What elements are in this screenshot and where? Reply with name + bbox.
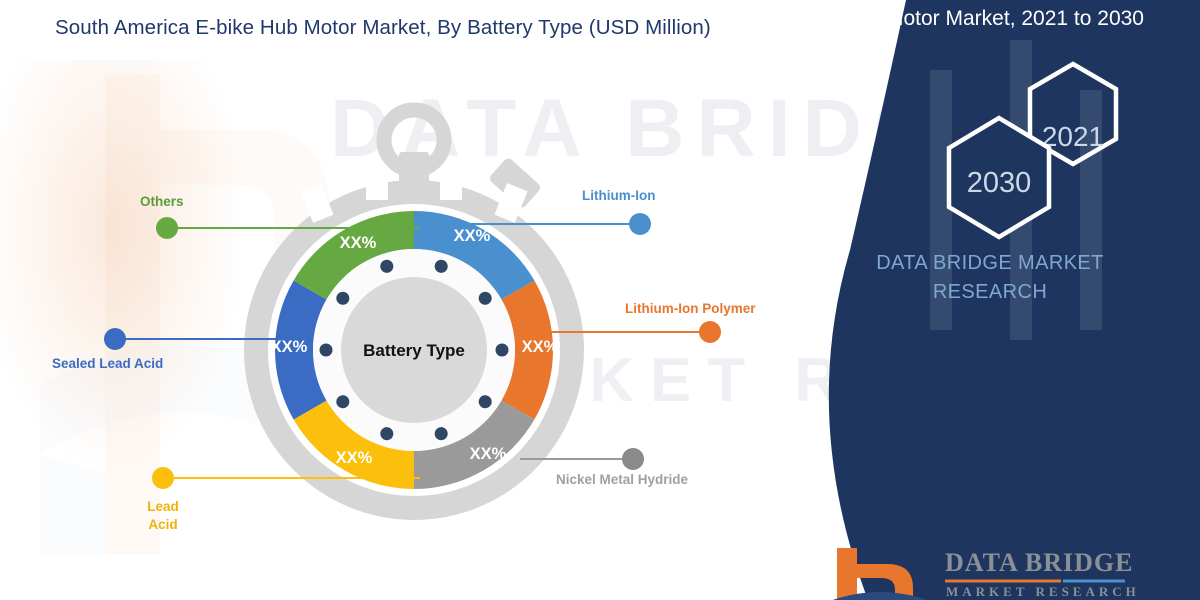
hexagon-2030[interactable]: 2030 (949, 118, 1049, 237)
lead-acid-line1: Lead (147, 499, 179, 514)
callout-label-lithium-ion: Lithium-Ion (582, 188, 655, 203)
infographic-page: DATA BRIDGE MARKET RESEARCH South Americ… (0, 0, 1200, 600)
callout-label-lead-acid: Lead Acid (128, 498, 198, 534)
lead-acid-line2: Acid (148, 517, 177, 532)
callout-dot-nickel-metal-hydride[interactable] (622, 448, 644, 470)
brand-text-line1: DATA BRIDGE MARKET (800, 252, 1180, 275)
callout-label-sealed-lead-acid: Sealed Lead Acid (52, 356, 163, 371)
value-label-sealed-lead-acid: XX% (271, 338, 308, 356)
value-label-lithium-ion-polymer: XX% (522, 338, 559, 356)
hexagon-2030-label: 2030 (967, 167, 1032, 199)
callout-label-lithium-ion-polymer: Lithium-Ion Polymer (625, 301, 756, 316)
callout-dot-lithium-ion[interactable] (629, 213, 651, 235)
value-label-others: XX% (340, 234, 377, 252)
dbmr-logo: DATA BRIDGE MARKET RESEARCH (825, 540, 1185, 600)
dbmr-logo-name: DATA BRIDGE (945, 548, 1133, 578)
value-label-lithium-ion: XX% (454, 227, 491, 245)
dbmr-logo-tagline: MARKET RESEARCH (946, 584, 1140, 600)
right-side-panel: Motor Market, 2021 to 2030 2021 2030 DAT… (780, 0, 1200, 600)
callout-dot-others[interactable] (156, 217, 178, 239)
donut-center-label: Battery Type (363, 341, 465, 360)
callout-label-others: Others (140, 194, 184, 209)
callout-dot-lead-acid[interactable] (152, 467, 174, 489)
brand-text-line2: RESEARCH (800, 281, 1180, 304)
value-label-lead-acid: XX% (336, 449, 373, 467)
callout-dot-sealed-lead-acid[interactable] (104, 328, 126, 350)
value-label-nickel-metal-hydride: XX% (470, 445, 507, 463)
callout-label-nickel-metal-hydride: Nickel Metal Hydride (556, 472, 688, 487)
callout-dot-lithium-ion-polymer[interactable] (699, 321, 721, 343)
